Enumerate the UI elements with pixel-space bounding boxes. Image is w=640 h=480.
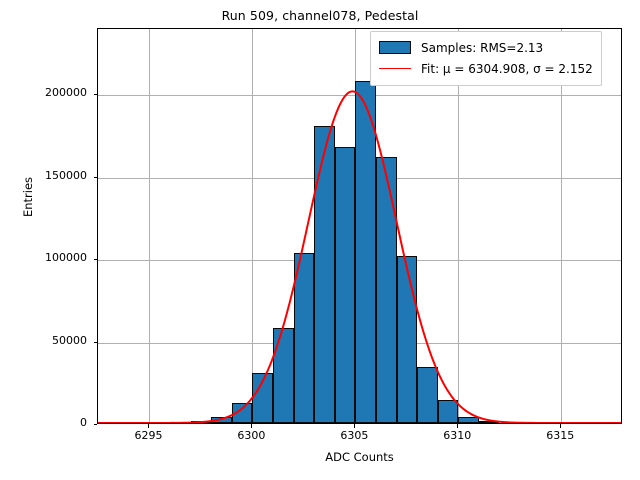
plot-area [97,28,622,424]
legend-line-icon [379,68,411,69]
page-title: Run 509, channel078, Pedestal [0,8,640,23]
x-tick-label: 6300 [221,429,281,442]
x-tick-mark [251,424,252,428]
y-tick-mark [94,259,98,260]
gaussian-fit-curve [98,29,621,423]
legend-item-fit: Fit: μ = 6304.908, σ = 2.152 [379,58,593,79]
x-tick-label: 6305 [324,429,384,442]
x-tick-mark [457,424,458,428]
x-tick-mark [148,424,149,428]
y-tick-mark [94,342,98,343]
x-tick-label: 6295 [118,429,178,442]
legend-label-samples: Samples: RMS=2.13 [421,41,543,55]
legend-patch-icon [379,41,411,54]
y-tick-mark [94,177,98,178]
x-axis-label: ADC Counts [97,450,622,464]
y-tick-label: 0 [17,416,87,429]
y-tick-mark [94,94,98,95]
figure-canvas: Run 509, channel078, Pedestal 6295630063… [0,0,640,480]
y-axis-label: Entries [21,107,35,287]
x-tick-label: 6310 [427,429,487,442]
legend[interactable]: Samples: RMS=2.13 Fit: μ = 6304.908, σ =… [370,31,602,86]
x-tick-mark [354,424,355,428]
y-tick-label: 200000 [17,86,87,99]
x-tick-label: 6315 [530,429,590,442]
y-tick-label: 50000 [17,334,87,347]
x-tick-mark [560,424,561,428]
legend-label-fit: Fit: μ = 6304.908, σ = 2.152 [421,62,593,76]
legend-item-samples: Samples: RMS=2.13 [379,37,593,58]
y-tick-mark [94,424,98,425]
